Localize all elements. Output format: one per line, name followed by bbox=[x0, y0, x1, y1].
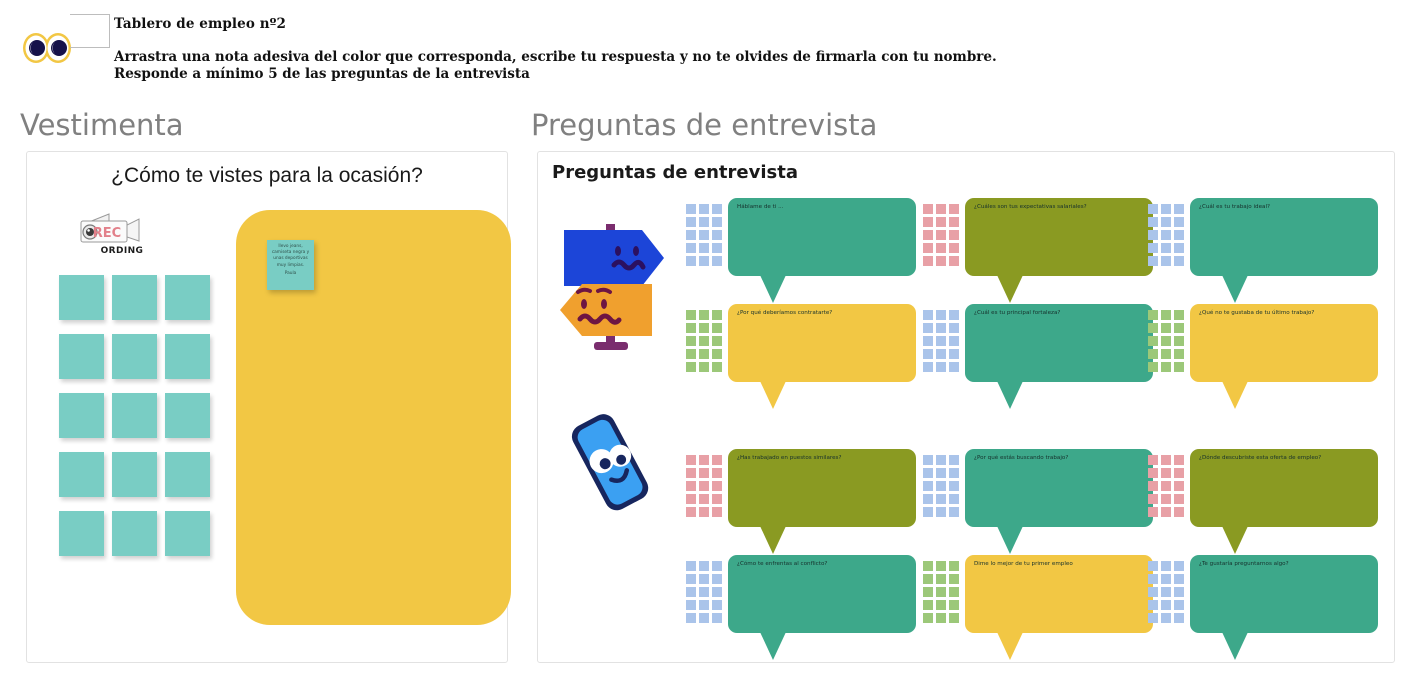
dot-grid-cell bbox=[686, 494, 696, 504]
question-cell[interactable]: ¿Por qué deberíamos contratarte? bbox=[686, 304, 916, 409]
dot-grid-cell bbox=[923, 323, 933, 333]
bubble-tail bbox=[760, 381, 786, 409]
dot-grid-cell bbox=[949, 336, 959, 346]
dot-grid-cell bbox=[923, 600, 933, 610]
dot-grid-cell bbox=[936, 600, 946, 610]
dot-grid-cell bbox=[949, 507, 959, 517]
dot-grid-cell bbox=[936, 323, 946, 333]
sticky-note[interactable] bbox=[112, 393, 157, 438]
dot-grid-cell bbox=[1161, 613, 1171, 623]
dot-grid-cell bbox=[699, 587, 709, 597]
dot-grid-cell bbox=[699, 481, 709, 491]
dot-grid-cell bbox=[923, 243, 933, 253]
question-cell[interactable]: Háblame de ti ... bbox=[686, 198, 916, 303]
question-cell[interactable]: ¿Cuál es tu principal fortaleza? bbox=[923, 304, 1153, 409]
dot-grid-icon bbox=[1148, 455, 1184, 517]
question-text: ¿Has trabajado en puestos similares? bbox=[737, 454, 910, 462]
dot-grid-icon bbox=[686, 561, 722, 623]
dot-grid-cell bbox=[686, 362, 696, 372]
question-text: ¿Te gustaría preguntarnos algo? bbox=[1199, 560, 1372, 568]
question-bubble[interactable]: ¿Por qué estás buscando trabajo? bbox=[965, 449, 1153, 527]
dot-grid-cell bbox=[949, 561, 959, 571]
dot-grid-cell bbox=[949, 587, 959, 597]
svg-text:REC: REC bbox=[93, 226, 121, 241]
dot-grid-cell bbox=[923, 587, 933, 597]
dot-grid-cell bbox=[699, 362, 709, 372]
question-bubble[interactable]: ¿Cuál es tu principal fortaleza? bbox=[965, 304, 1153, 382]
dot-grid-cell bbox=[1174, 336, 1184, 346]
dot-grid-cell bbox=[923, 574, 933, 584]
dot-grid-cell bbox=[923, 561, 933, 571]
dot-grid-cell bbox=[686, 600, 696, 610]
dot-grid-cell bbox=[1174, 204, 1184, 214]
dot-grid-cell bbox=[1174, 310, 1184, 320]
question-bubble[interactable]: ¿Qué no te gustaba de tu último trabajo? bbox=[1190, 304, 1378, 382]
page-header: Tablero de empleo nº2 Arrastra una nota … bbox=[0, 0, 1422, 96]
dot-grid-cell bbox=[699, 455, 709, 465]
dot-grid-cell bbox=[1174, 256, 1184, 266]
dot-grid-cell bbox=[923, 217, 933, 227]
dot-grid-cell bbox=[949, 481, 959, 491]
question-cell[interactable]: ¿Cómo te enfrentas al conflicto? bbox=[686, 555, 916, 660]
question-cell[interactable]: ¿Cuáles son tus expectativas salariales? bbox=[923, 198, 1153, 303]
answer-sticky-note[interactable]: llevo jeans, camiseta negra y unas depor… bbox=[267, 240, 314, 290]
dot-grid-cell bbox=[699, 494, 709, 504]
dot-grid-cell bbox=[1161, 230, 1171, 240]
dot-grid-cell bbox=[936, 230, 946, 240]
dot-grid-cell bbox=[1148, 349, 1158, 359]
dot-grid-cell bbox=[1161, 323, 1171, 333]
question-text: ¿Por qué estás buscando trabajo? bbox=[974, 454, 1147, 462]
dot-grid-cell bbox=[923, 468, 933, 478]
dot-grid-cell bbox=[712, 256, 722, 266]
question-cell[interactable]: ¿Has trabajado en puestos similares? bbox=[686, 449, 916, 554]
dot-grid-cell bbox=[949, 323, 959, 333]
dot-grid-cell bbox=[712, 613, 722, 623]
dot-grid-cell bbox=[1148, 217, 1158, 227]
dot-grid-cell bbox=[1148, 561, 1158, 571]
dot-grid-cell bbox=[949, 243, 959, 253]
dot-grid-cell bbox=[936, 468, 946, 478]
dot-grid-cell bbox=[1161, 468, 1171, 478]
dot-grid-cell bbox=[1161, 310, 1171, 320]
dot-grid-cell bbox=[1148, 481, 1158, 491]
dot-grid-cell bbox=[923, 494, 933, 504]
dot-grid-cell bbox=[936, 349, 946, 359]
dot-grid-cell bbox=[686, 468, 696, 478]
dot-grid-icon bbox=[923, 455, 959, 517]
dot-grid-cell bbox=[936, 336, 946, 346]
dot-grid-cell bbox=[686, 587, 696, 597]
dot-grid-cell bbox=[1148, 362, 1158, 372]
question-text: ¿Cómo te enfrentas al conflicto? bbox=[737, 560, 910, 568]
dot-grid-cell bbox=[699, 468, 709, 478]
dot-grid-cell bbox=[686, 481, 696, 491]
bubble-tail bbox=[1222, 275, 1248, 303]
dot-grid-cell bbox=[1148, 600, 1158, 610]
dot-grid-cell bbox=[1161, 494, 1171, 504]
bubble-tail bbox=[997, 526, 1023, 554]
sticky-note[interactable] bbox=[59, 393, 104, 438]
dot-grid-cell bbox=[949, 204, 959, 214]
sticky-note[interactable] bbox=[112, 334, 157, 379]
dot-grid-cell bbox=[1148, 574, 1158, 584]
dot-grid-cell bbox=[712, 336, 722, 346]
dot-grid-cell bbox=[936, 481, 946, 491]
sticky-note[interactable] bbox=[59, 511, 104, 556]
bubble-tail bbox=[760, 275, 786, 303]
dot-grid-cell bbox=[949, 230, 959, 240]
dot-grid-icon bbox=[923, 204, 959, 266]
vestimenta-panel-title: ¿Cómo te vistes para la ocasión? bbox=[27, 164, 507, 188]
dot-grid-cell bbox=[712, 217, 722, 227]
dot-grid-cell bbox=[699, 310, 709, 320]
bubble-tail bbox=[997, 275, 1023, 303]
dot-grid-cell bbox=[699, 256, 709, 266]
dot-grid-cell bbox=[1148, 230, 1158, 240]
dot-grid-cell bbox=[923, 310, 933, 320]
question-text: ¿Cuál es tu trabajo ideal? bbox=[1199, 203, 1372, 211]
preguntas-panel-title: Preguntas de entrevista bbox=[552, 162, 798, 183]
question-text: ¿Cuáles son tus expectativas salariales? bbox=[974, 203, 1147, 211]
bubble-tail bbox=[997, 381, 1023, 409]
dot-grid-cell bbox=[936, 613, 946, 623]
dot-grid-cell bbox=[949, 455, 959, 465]
dot-grid-cell bbox=[949, 494, 959, 504]
question-bubble[interactable]: ¿Cuáles son tus expectativas salariales? bbox=[965, 198, 1153, 276]
dot-grid-cell bbox=[936, 494, 946, 504]
answer-note-text: llevo jeans, camiseta negra y unas depor… bbox=[270, 244, 311, 269]
dot-grid-cell bbox=[699, 349, 709, 359]
sticky-note[interactable] bbox=[165, 275, 210, 320]
dot-grid-cell bbox=[1174, 494, 1184, 504]
dot-grid-cell bbox=[1161, 481, 1171, 491]
dot-grid-cell bbox=[712, 481, 722, 491]
dot-grid-cell bbox=[1174, 613, 1184, 623]
dot-grid-cell bbox=[936, 587, 946, 597]
question-cell[interactable]: ¿Dónde descubriste esta oferta de empleo… bbox=[1148, 449, 1378, 554]
dot-grid-cell bbox=[1174, 468, 1184, 478]
question-bubble[interactable]: Háblame de ti ... bbox=[728, 198, 916, 276]
dot-grid-cell bbox=[1148, 468, 1158, 478]
dot-grid-cell bbox=[1148, 455, 1158, 465]
dot-grid-cell bbox=[712, 204, 722, 214]
dot-grid-cell bbox=[1148, 310, 1158, 320]
dot-grid-cell bbox=[686, 455, 696, 465]
dot-grid-cell bbox=[1174, 230, 1184, 240]
dot-grid-cell bbox=[949, 468, 959, 478]
question-bubble[interactable]: Dime lo mejor de tu primer empleo bbox=[965, 555, 1153, 633]
dot-grid-cell bbox=[936, 574, 946, 584]
dot-grid-cell bbox=[699, 336, 709, 346]
dot-grid-cell bbox=[712, 230, 722, 240]
dot-grid-icon bbox=[686, 204, 722, 266]
question-cell[interactable]: ¿Te gustaría preguntarnos algo? bbox=[1148, 555, 1378, 660]
question-text: ¿Qué no te gustaba de tu último trabajo? bbox=[1199, 309, 1372, 317]
dot-grid-cell bbox=[936, 362, 946, 372]
dot-grid-cell bbox=[686, 256, 696, 266]
sticky-note[interactable] bbox=[112, 452, 157, 497]
dot-grid-cell bbox=[936, 561, 946, 571]
dot-grid-cell bbox=[949, 310, 959, 320]
dot-grid-cell bbox=[712, 468, 722, 478]
dot-grid-cell bbox=[936, 256, 946, 266]
dot-grid-cell bbox=[1148, 494, 1158, 504]
question-bubble[interactable]: ¿Por qué deberíamos contratarte? bbox=[728, 304, 916, 382]
smiling-phone-illustration bbox=[560, 410, 662, 523]
question-bubble[interactable]: ¿Cómo te enfrentas al conflicto? bbox=[728, 555, 916, 633]
dot-grid-cell bbox=[699, 323, 709, 333]
dot-grid-cell bbox=[949, 613, 959, 623]
dot-grid-cell bbox=[1161, 256, 1171, 266]
signpost-arrows-illustration bbox=[556, 218, 668, 363]
dot-grid-cell bbox=[1161, 217, 1171, 227]
bubble-tail bbox=[997, 632, 1023, 660]
dot-grid-cell bbox=[699, 561, 709, 571]
dot-grid-cell bbox=[712, 243, 722, 253]
dot-grid-cell bbox=[686, 310, 696, 320]
question-text: ¿Por qué deberíamos contratarte? bbox=[737, 309, 910, 317]
dot-grid-cell bbox=[923, 613, 933, 623]
dot-grid-cell bbox=[1148, 587, 1158, 597]
dot-grid-icon bbox=[923, 310, 959, 372]
bubble-tail bbox=[1222, 526, 1248, 554]
dot-grid-cell bbox=[949, 349, 959, 359]
dot-grid-cell bbox=[686, 204, 696, 214]
question-cell[interactable]: ¿Cuál es tu trabajo ideal? bbox=[1148, 198, 1378, 303]
dot-grid-cell bbox=[1174, 561, 1184, 571]
dot-grid-cell bbox=[1161, 561, 1171, 571]
dot-grid-cell bbox=[712, 587, 722, 597]
dot-grid-cell bbox=[712, 455, 722, 465]
dot-grid-cell bbox=[699, 507, 709, 517]
dot-grid-cell bbox=[923, 362, 933, 372]
dot-grid-cell bbox=[1161, 336, 1171, 346]
rec-icon-label: ORDING bbox=[87, 246, 157, 256]
rec-recording-icon: REC ORDING bbox=[75, 208, 161, 262]
dot-grid-cell bbox=[923, 336, 933, 346]
dot-grid-cell bbox=[699, 204, 709, 214]
dot-grid-icon bbox=[1148, 561, 1184, 623]
dot-grid-cell bbox=[923, 455, 933, 465]
question-cell[interactable]: ¿Por qué estás buscando trabajo? bbox=[923, 449, 1153, 554]
question-text: ¿Cuál es tu principal fortaleza? bbox=[974, 309, 1147, 317]
bubble-tail bbox=[760, 526, 786, 554]
dot-grid-icon bbox=[1148, 310, 1184, 372]
dot-grid-cell bbox=[1161, 455, 1171, 465]
question-bubble[interactable]: ¿Has trabajado en puestos similares? bbox=[728, 449, 916, 527]
dot-grid-cell bbox=[1174, 600, 1184, 610]
question-cell[interactable]: Dime lo mejor de tu primer empleo bbox=[923, 555, 1153, 660]
dot-grid-cell bbox=[949, 574, 959, 584]
dot-grid-icon bbox=[1148, 204, 1184, 266]
dot-grid-cell bbox=[712, 561, 722, 571]
dot-grid-cell bbox=[712, 494, 722, 504]
dot-grid-cell bbox=[1161, 587, 1171, 597]
question-bubble[interactable]: ¿Te gustaría preguntarnos algo? bbox=[1190, 555, 1378, 633]
sticky-note[interactable] bbox=[59, 334, 104, 379]
bubble-tail bbox=[760, 632, 786, 660]
question-text: Dime lo mejor de tu primer empleo bbox=[974, 560, 1147, 568]
dot-grid-cell bbox=[699, 230, 709, 240]
question-text: ¿Dónde descubriste esta oferta de empleo… bbox=[1199, 454, 1372, 462]
bubble-tail bbox=[1222, 381, 1248, 409]
dot-grid-cell bbox=[686, 507, 696, 517]
dot-grid-cell bbox=[936, 243, 946, 253]
question-cell[interactable]: ¿Qué no te gustaba de tu último trabajo? bbox=[1148, 304, 1378, 409]
preguntas-panel: Preguntas de entrevista bbox=[537, 151, 1395, 663]
page-title: Tablero de empleo nº2 bbox=[114, 16, 286, 32]
dot-grid-cell bbox=[936, 204, 946, 214]
dot-grid-cell bbox=[699, 613, 709, 623]
dot-grid-cell bbox=[1174, 587, 1184, 597]
sticky-note[interactable] bbox=[165, 393, 210, 438]
dot-grid-cell bbox=[923, 204, 933, 214]
dot-grid-cell bbox=[1174, 243, 1184, 253]
dot-grid-cell bbox=[1148, 243, 1158, 253]
dot-grid-cell bbox=[686, 561, 696, 571]
dot-grid-cell bbox=[949, 217, 959, 227]
dot-grid-cell bbox=[949, 256, 959, 266]
dot-grid-cell bbox=[923, 256, 933, 266]
section-title-preguntas: Preguntas de entrevista bbox=[531, 108, 877, 142]
dot-grid-cell bbox=[1161, 204, 1171, 214]
dot-grid-cell bbox=[712, 310, 722, 320]
dot-grid-cell bbox=[1148, 204, 1158, 214]
vestimenta-panel: ¿Cómo te vistes para la ocasión? REC ORD… bbox=[26, 151, 508, 663]
dot-grid-cell bbox=[1161, 574, 1171, 584]
dot-grid-cell bbox=[686, 349, 696, 359]
instruction-line-2: Responde a mínimo 5 de las preguntas de … bbox=[114, 66, 1314, 83]
dot-grid-cell bbox=[1148, 507, 1158, 517]
dot-grid-cell bbox=[923, 507, 933, 517]
dot-grid-cell bbox=[686, 613, 696, 623]
dot-grid-icon bbox=[923, 561, 959, 623]
dot-grid-cell bbox=[949, 600, 959, 610]
section-title-vestimenta: Vestimenta bbox=[20, 108, 184, 142]
sticky-note[interactable] bbox=[165, 334, 210, 379]
bubble-tail bbox=[1222, 632, 1248, 660]
dot-grid-cell bbox=[686, 336, 696, 346]
header-bracket-line bbox=[70, 14, 110, 48]
dot-grid-cell bbox=[712, 362, 722, 372]
dot-grid-cell bbox=[699, 574, 709, 584]
dot-grid-icon bbox=[686, 455, 722, 517]
dot-grid-cell bbox=[1161, 362, 1171, 372]
dot-grid-cell bbox=[1174, 507, 1184, 517]
sticky-note[interactable] bbox=[165, 511, 210, 556]
dot-grid-cell bbox=[1174, 455, 1184, 465]
question-bubble[interactable]: ¿Cuál es tu trabajo ideal? bbox=[1190, 198, 1378, 276]
sticky-note-palette[interactable] bbox=[59, 275, 210, 556]
sticky-note[interactable] bbox=[59, 452, 104, 497]
dot-grid-cell bbox=[936, 455, 946, 465]
dot-grid-cell bbox=[923, 230, 933, 240]
dot-grid-cell bbox=[936, 217, 946, 227]
dot-grid-cell bbox=[936, 507, 946, 517]
dot-grid-cell bbox=[686, 574, 696, 584]
dot-grid-icon bbox=[686, 310, 722, 372]
dot-grid-cell bbox=[686, 230, 696, 240]
dot-grid-cell bbox=[1174, 574, 1184, 584]
dot-grid-cell bbox=[686, 243, 696, 253]
vestimenta-answer-card[interactable]: llevo jeans, camiseta negra y unas depor… bbox=[236, 210, 511, 625]
dot-grid-cell bbox=[686, 323, 696, 333]
sticky-note[interactable] bbox=[165, 452, 210, 497]
dot-grid-cell bbox=[1161, 507, 1171, 517]
dot-grid-cell bbox=[699, 600, 709, 610]
dot-grid-cell bbox=[1174, 362, 1184, 372]
dot-grid-cell bbox=[1174, 481, 1184, 491]
dot-grid-cell bbox=[712, 600, 722, 610]
dot-grid-cell bbox=[699, 217, 709, 227]
dot-grid-cell bbox=[1148, 336, 1158, 346]
sticky-note[interactable] bbox=[112, 275, 157, 320]
dot-grid-cell bbox=[1174, 217, 1184, 227]
dot-grid-cell bbox=[923, 481, 933, 491]
page-instructions: Arrastra una nota adesiva del color que … bbox=[114, 49, 1314, 83]
question-bubble[interactable]: ¿Dónde descubriste esta oferta de empleo… bbox=[1190, 449, 1378, 527]
dot-grid-cell bbox=[1161, 349, 1171, 359]
dot-grid-cell bbox=[923, 349, 933, 359]
dot-grid-cell bbox=[712, 507, 722, 517]
instruction-line-1: Arrastra una nota adesiva del color que … bbox=[114, 49, 1314, 66]
dot-grid-cell bbox=[686, 217, 696, 227]
dot-grid-cell bbox=[949, 362, 959, 372]
dot-grid-cell bbox=[936, 310, 946, 320]
dot-grid-cell bbox=[712, 323, 722, 333]
dot-grid-cell bbox=[1161, 600, 1171, 610]
sticky-note[interactable] bbox=[112, 511, 157, 556]
dot-grid-cell bbox=[712, 574, 722, 584]
dot-grid-cell bbox=[1148, 323, 1158, 333]
sticky-note[interactable] bbox=[59, 275, 104, 320]
dot-grid-cell bbox=[1161, 243, 1171, 253]
eyes-icon bbox=[22, 32, 72, 64]
dot-grid-cell bbox=[1148, 613, 1158, 623]
question-text: Háblame de ti ... bbox=[737, 203, 910, 211]
dot-grid-cell bbox=[1174, 323, 1184, 333]
answer-note-signature: Paula bbox=[270, 271, 311, 276]
dot-grid-cell bbox=[1174, 349, 1184, 359]
dot-grid-cell bbox=[1148, 256, 1158, 266]
dot-grid-cell bbox=[712, 349, 722, 359]
dot-grid-cell bbox=[699, 243, 709, 253]
